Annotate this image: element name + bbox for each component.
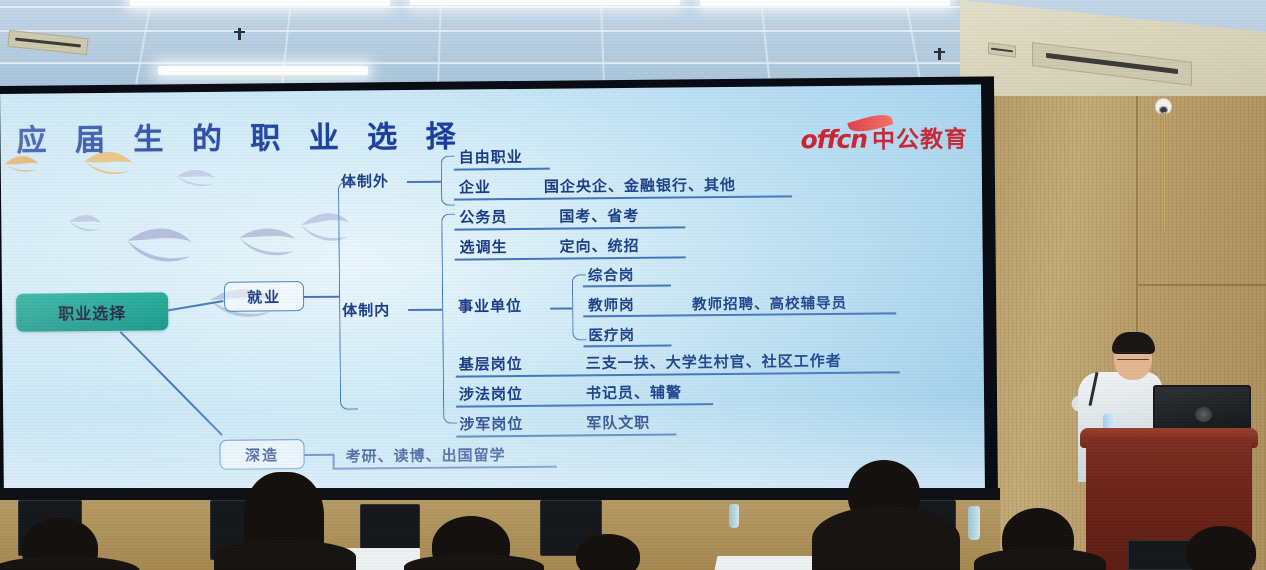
row-detail-grassroots: 三支一扶、大学生村官、社区工作者 [586,350,842,373]
water-bottle [729,504,739,528]
glasses-icon [1117,352,1149,360]
row-detail-further-study: 考研、读博、出国留学 [345,444,505,467]
node-label: 就业 [247,286,281,307]
water-bottle [968,506,980,540]
presenter-hair [1112,332,1155,354]
ceiling-light [158,66,368,75]
audience-shoulders [214,540,356,570]
label-inside-system: 体制内 [342,299,390,320]
row-label-medical-post: 医疗岗 [588,324,635,345]
mindmap-node-employment: 就业 [224,281,304,312]
mindmap-node-further-study: 深造 [219,439,304,470]
connector-study-drop [333,454,335,468]
row-detail-selected-graduate: 定向、统招 [559,235,639,257]
projection-screen-frame: 应 届 生 的 职 业 选 择 offcn 中公教育 职业选择 就业 [0,76,998,536]
audience-head [1186,526,1256,570]
connector-outside-stem [407,181,441,183]
label-outside-system: 体制外 [341,170,389,191]
row-label-grassroots: 基层岗位 [459,353,523,375]
row-detail-legal: 书记员、辅警 [586,381,682,403]
mindmap-root-node: 职业选择 [16,292,168,331]
row-underline-freelance [454,168,550,171]
ceiling-light [410,0,680,5]
mindmap: 职业选择 就业 深造 体制外 体制内 [0,85,985,526]
lecture-hall-scene: 应 届 生 的 职 业 选 择 offcn 中公教育 职业选择 就业 [0,0,1266,570]
sprinkler-icon [238,28,241,40]
audience-head [576,534,640,570]
row-underline-enterprise [454,195,792,200]
row-detail-teacher-post: 教师招聘、高校辅导员 [692,292,847,314]
ceiling-light [130,0,390,6]
connector-system-split [338,182,358,410]
row-detail-military: 军队文职 [586,412,650,434]
connector-institution-stem [550,307,572,309]
connector-outside-rows [441,156,455,206]
connector-study-stem [305,454,333,456]
sprinkler-icon [938,48,941,60]
connector-root-to-employment [168,300,224,311]
row-label-institution: 事业单位 [458,295,522,317]
connector-inside-rows [441,214,457,424]
row-detail-civil-servant: 国考、省考 [559,205,639,227]
projection-screen: 应 届 生 的 职 业 选 择 offcn 中公教育 职业选择 就业 [0,85,985,526]
row-label-comprehensive-post: 综合岗 [588,264,635,285]
row-detail-enterprise: 国企央企、金融银行、其他 [544,174,736,197]
row-underline-medical-post [584,345,672,347]
connector-institution-sub [572,274,587,340]
row-label-teacher-post: 教师岗 [588,294,635,315]
row-label-civil-servant: 公务员 [459,206,507,227]
connector-inside-stem [408,309,442,311]
connector-root-to-study [120,331,223,436]
row-label-legal: 涉法岗位 [459,383,523,405]
connector-employment-stem [303,296,339,298]
camera-pole [1163,112,1166,232]
row-label-military: 涉军岗位 [459,413,523,435]
row-label-selected-graduate: 选调生 [459,236,507,257]
audience-shoulders [974,548,1106,570]
row-label-enterprise: 企业 [459,176,491,197]
row-underline-comprehensive-post [583,285,671,287]
audience-shoulders [812,506,960,570]
node-label: 深造 [245,444,279,465]
row-label-freelance: 自由职业 [459,146,523,168]
ceiling-light [700,0,950,6]
air-vent [7,30,88,55]
